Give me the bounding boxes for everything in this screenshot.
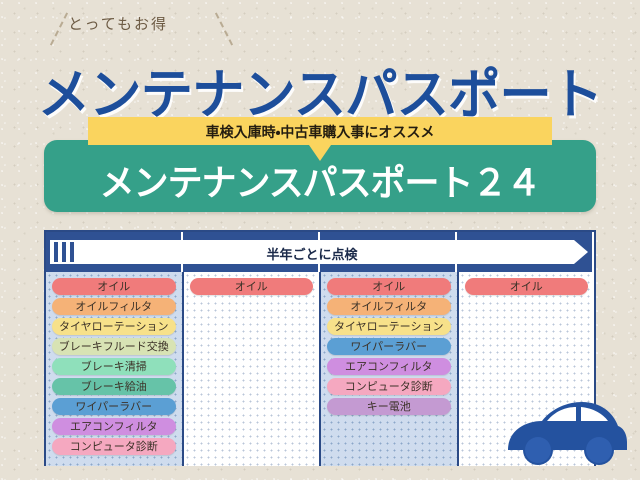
service-pill: オイル [465, 278, 589, 295]
service-pill: ワイパーラバー [327, 338, 451, 355]
service-pill: エアコンフィルタ [52, 418, 176, 435]
plan-name-text: メンテナンスパスポート２４ [52, 154, 587, 206]
service-pill: オイル [327, 278, 451, 295]
schedule-header-band: 半年ごとに点検 [46, 232, 594, 272]
interval-arrow: 半年ごとに点検 [50, 240, 588, 264]
service-pill: コンピュータ診断 [52, 438, 176, 455]
service-pill: オイルフィルタ [52, 298, 176, 315]
dashed-tick-right-icon [215, 13, 233, 46]
service-pill: ブレーキフルード交換 [52, 338, 176, 355]
dashed-tick-left-icon [50, 13, 68, 46]
eyebrow-text: とってもお得 [68, 13, 168, 34]
ribbon-pointer-icon [309, 145, 331, 161]
service-pill: タイヤローテーション [327, 318, 451, 335]
service-pill: ワイパーラバー [52, 398, 176, 415]
poster-root: とってもお得 メンテナンスパスポート メンテナンスパスポート２４ 車検入庫時・中… [0, 0, 640, 480]
recommendation-ribbon: 車検入庫時・中古車購入事にオススメ [88, 117, 552, 145]
column-3: オイルオイルフィルタタイヤローテーションワイパーラバーエアコンフィルタコンピュー… [321, 272, 459, 466]
service-pill: エアコンフィルタ [327, 358, 451, 375]
car-side-icon [500, 388, 628, 470]
eyebrow-group: とってもお得 [38, 9, 258, 45]
arrow-head-icon [574, 240, 588, 264]
service-pill: ブレーキ給油 [52, 378, 176, 395]
service-pill: ブレーキ清掃 [52, 358, 176, 375]
service-pill: タイヤローテーション [52, 318, 176, 335]
service-pill: オイルフィルタ [327, 298, 451, 315]
service-pill: オイル [190, 278, 314, 295]
column-1: オイルオイルフィルタタイヤローテーションブレーキフルード交換ブレーキ清掃ブレーキ… [46, 272, 184, 466]
recommendation-text: 車検入庫時・中古車購入事にオススメ [88, 122, 552, 142]
interval-label: 半年ごとに点検 [50, 244, 574, 263]
service-pill: キー電池 [327, 398, 451, 415]
service-pill: オイル [52, 278, 176, 295]
service-pill: コンピュータ診断 [327, 378, 451, 395]
column-2: オイル [184, 272, 322, 466]
